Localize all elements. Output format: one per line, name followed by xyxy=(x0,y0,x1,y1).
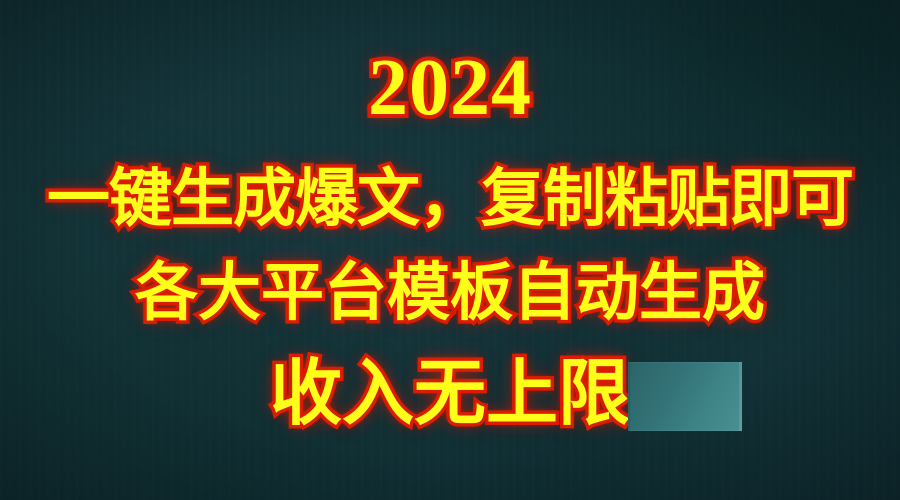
headline-text-stack: 2024 一键生成爆文，复制粘贴即可 各大平台模板自动生成 收入无上限 xyxy=(0,0,900,500)
headline-income: 收入无上限 xyxy=(0,358,900,430)
headline-feature: 各大平台模板自动生成 xyxy=(0,262,900,325)
promo-poster: 2024 一键生成爆文，复制粘贴即可 各大平台模板自动生成 收入无上限 xyxy=(0,0,900,500)
headline-year: 2024 xyxy=(0,48,900,128)
redaction-rectangle-right-edge xyxy=(739,362,742,431)
headline-benefit: 一键生成爆文，复制粘贴即可 xyxy=(0,168,900,231)
redaction-rectangle-left-edge xyxy=(628,362,630,431)
redaction-rectangle xyxy=(628,362,742,431)
